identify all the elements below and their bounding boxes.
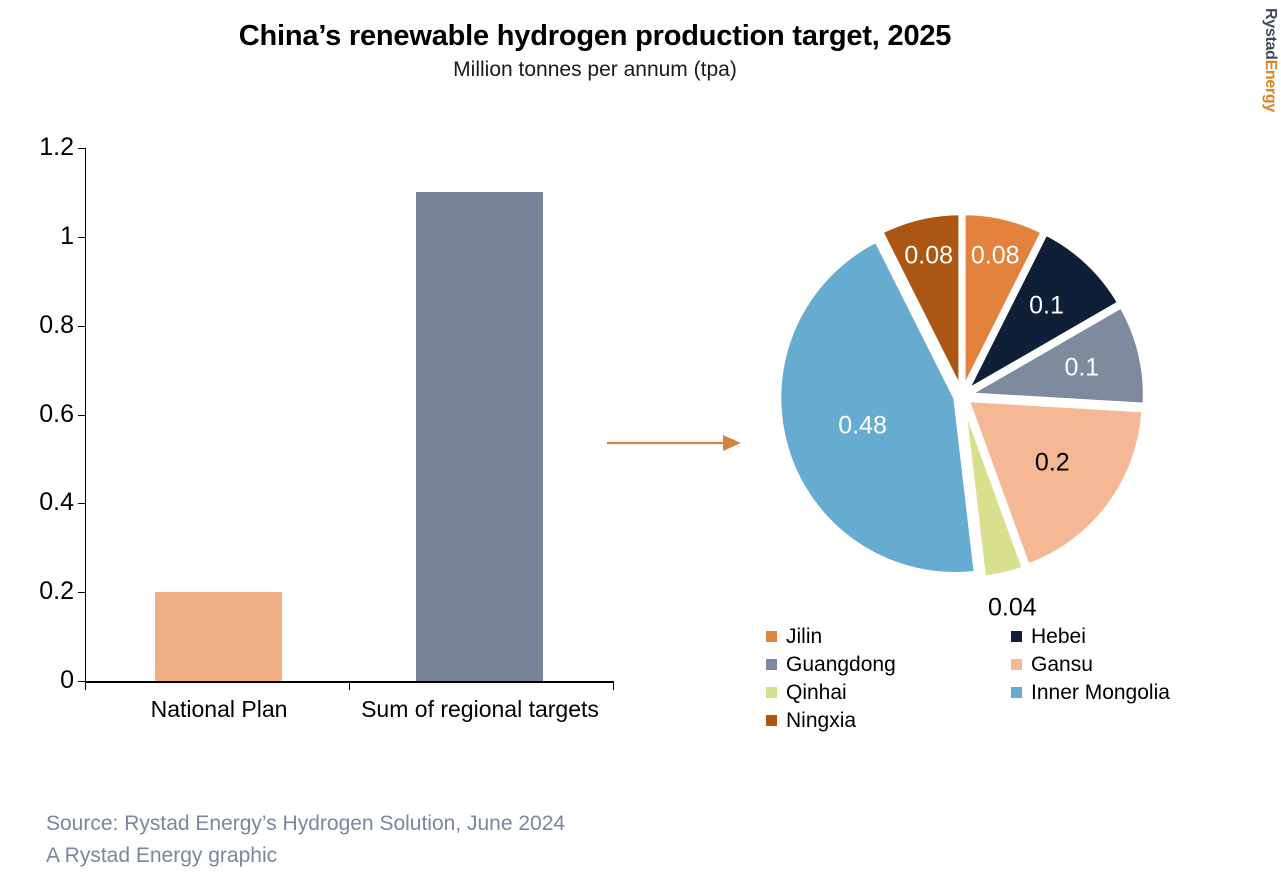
y-axis-tick-mark xyxy=(78,326,86,327)
y-axis-tick-label: 1.2 xyxy=(10,135,74,160)
logo-text-rystad: Rystad xyxy=(1262,8,1279,60)
legend-label: Qinhai xyxy=(786,682,847,703)
bar-sum-of-regional-targets xyxy=(416,192,543,681)
legend-item-ningxia[interactable]: Ningxia xyxy=(766,706,1006,734)
pie-value-label-guangdong: 0.1 xyxy=(1064,355,1099,380)
legend-item-gansu[interactable]: Gansu xyxy=(1011,650,1211,678)
pie-value-label-ningxia: 0.08 xyxy=(904,243,953,268)
legend-swatch-icon xyxy=(766,659,777,670)
y-axis-tick-mark xyxy=(78,592,86,593)
y-axis-tick-mark xyxy=(78,503,86,504)
legend-label: Jilin xyxy=(786,626,822,647)
rystad-energy-logo: RystadEnergy xyxy=(1245,8,1279,158)
y-axis-tick-labels: 00.20.40.60.811.2 xyxy=(0,130,74,690)
legend-swatch-icon xyxy=(1011,687,1022,698)
bar-chart: 00.20.40.60.811.2 National PlanSum of re… xyxy=(0,130,660,770)
y-axis-tick-label: 0.8 xyxy=(10,313,74,338)
y-axis-tick-label: 0.2 xyxy=(10,579,74,604)
page-title: China’s renewable hydrogen production ta… xyxy=(0,20,1190,53)
bar-national-plan xyxy=(155,592,282,681)
source-footer: Source: Rystad Energy’s Hydrogen Solutio… xyxy=(46,808,565,871)
legend-label: Gansu xyxy=(1031,654,1093,675)
y-axis-tick-mark xyxy=(78,415,86,416)
y-axis-tick-mark xyxy=(78,237,86,238)
pie-value-label-inner-mongolia: 0.48 xyxy=(838,413,887,438)
legend-swatch-icon xyxy=(1011,631,1022,642)
pie-legend: JilinGuangdongQinhaiNingxia HebeiGansuIn… xyxy=(766,622,1212,734)
legend-swatch-icon xyxy=(766,687,777,698)
x-axis-tick-mark xyxy=(85,681,86,690)
legend-item-inner-mongolia[interactable]: Inner Mongolia xyxy=(1011,678,1211,706)
pie-value-label-qinhai: 0.04 xyxy=(988,596,1037,621)
y-axis-tick-label: 0 xyxy=(10,668,74,693)
y-axis-tick-label: 0.4 xyxy=(10,490,74,515)
y-axis-tick-label: 1 xyxy=(10,224,74,249)
legend-swatch-icon xyxy=(766,715,777,726)
legend-column-left: JilinGuangdongQinhaiNingxia xyxy=(766,622,1006,734)
source-line: Source: Rystad Energy’s Hydrogen Solutio… xyxy=(46,808,565,840)
legend-label: Guangdong xyxy=(786,654,896,675)
credit-line: A Rystad Energy graphic xyxy=(46,840,565,872)
pie-value-label-jilin: 0.08 xyxy=(971,243,1020,268)
x-axis-tick-mark xyxy=(349,681,350,690)
pie-value-label-gansu: 0.2 xyxy=(1035,451,1070,476)
legend-item-guangdong[interactable]: Guangdong xyxy=(766,650,1006,678)
legend-item-hebei[interactable]: Hebei xyxy=(1011,622,1211,650)
legend-item-jilin[interactable]: Jilin xyxy=(766,622,1006,650)
x-axis-label: Sum of regional targets xyxy=(353,695,607,724)
legend-swatch-icon xyxy=(1011,659,1022,670)
x-axis-tick-mark xyxy=(613,681,614,690)
legend-label: Hebei xyxy=(1031,626,1086,647)
pie-chart: 0.080.10.10.20.040.480.08 xyxy=(762,188,1167,608)
arrow-right-icon xyxy=(605,425,745,461)
legend-swatch-icon xyxy=(766,631,777,642)
logo-text-energy: Energy xyxy=(1262,60,1279,112)
y-axis-tick-label: 0.6 xyxy=(10,402,74,427)
pie-value-label-hebei: 0.1 xyxy=(1029,294,1064,319)
legend-column-right: HebeiGansuInner Mongolia xyxy=(1011,622,1211,706)
legend-label: Ningxia xyxy=(786,710,856,731)
legend-label: Inner Mongolia xyxy=(1031,682,1170,703)
chart-canvas: China’s renewable hydrogen production ta… xyxy=(0,0,1281,884)
chart-subtitle: Million tonnes per annum (tpa) xyxy=(0,58,1190,82)
y-axis-tick-mark xyxy=(78,148,86,149)
pie-slices xyxy=(762,188,1167,608)
legend-item-qinhai[interactable]: Qinhai xyxy=(766,678,1006,706)
x-axis-label: National Plan xyxy=(92,695,346,724)
